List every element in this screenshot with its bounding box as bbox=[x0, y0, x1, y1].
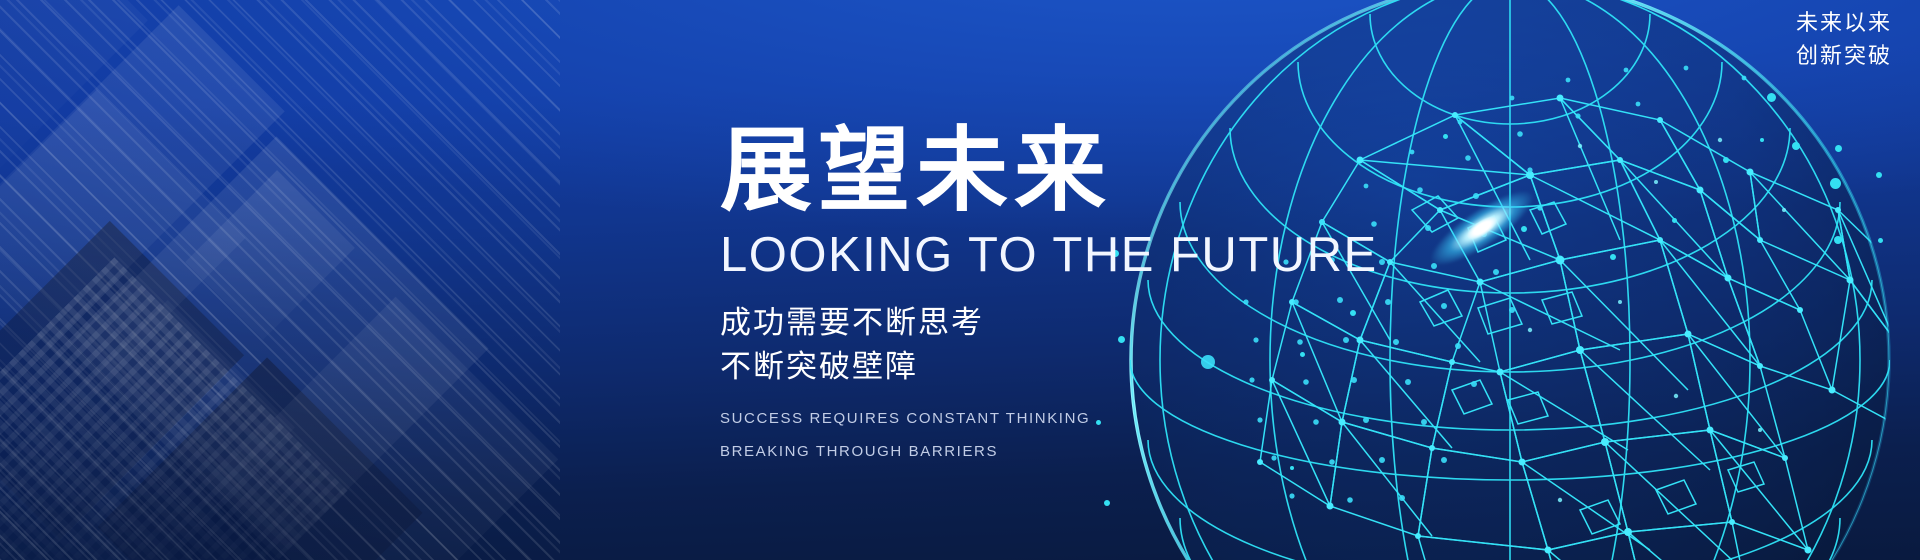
particle-dot bbox=[1878, 238, 1883, 243]
particle-dot bbox=[1723, 157, 1729, 163]
page-title: 展望未来 bbox=[720, 122, 1378, 221]
particle-dot bbox=[1792, 142, 1800, 150]
left-geometric-pattern bbox=[0, 0, 560, 560]
page-subtitle-en: LOOKING TO THE FUTURE bbox=[720, 229, 1378, 283]
tagline-en-line1: SUCCESS REQUIRES CONSTANT THINKING bbox=[720, 403, 1378, 435]
hero-banner: 未来以来 创新突破 展望未来 LOOKING TO THE FUTURE 成功需… bbox=[0, 0, 1920, 560]
tagline-en: SUCCESS REQUIRES CONSTANT THINKING BREAK… bbox=[720, 403, 1378, 468]
particle-dot bbox=[1443, 134, 1448, 139]
tagline-cn: 成功需要不断思考 不断突破壁障 bbox=[720, 301, 1378, 389]
particle-dot bbox=[1767, 93, 1776, 102]
tagline-en-line2: BREAKING THROUGH BARRIERS bbox=[720, 436, 1378, 468]
particle-dot bbox=[1830, 178, 1841, 189]
particle-dot bbox=[1521, 226, 1527, 232]
particle-dot bbox=[1834, 236, 1842, 244]
particle-dot bbox=[1835, 145, 1842, 152]
corner-tagline-line1: 未来以来 bbox=[1796, 6, 1892, 39]
corner-tagline: 未来以来 创新突破 bbox=[1796, 6, 1892, 72]
particle-dot bbox=[1876, 172, 1882, 178]
headline-block: 展望未来 LOOKING TO THE FUTURE 成功需要不断思考 不断突破… bbox=[720, 122, 1378, 468]
corner-tagline-line2: 创新突破 bbox=[1796, 39, 1892, 72]
particle-dot bbox=[1610, 254, 1616, 260]
particle-dot bbox=[1760, 138, 1764, 142]
particle-dot bbox=[1672, 218, 1677, 223]
tagline-cn-line1: 成功需要不断思考 bbox=[720, 301, 1378, 345]
particle-dot bbox=[1104, 500, 1110, 506]
tagline-cn-line2: 不断突破壁障 bbox=[720, 345, 1378, 389]
